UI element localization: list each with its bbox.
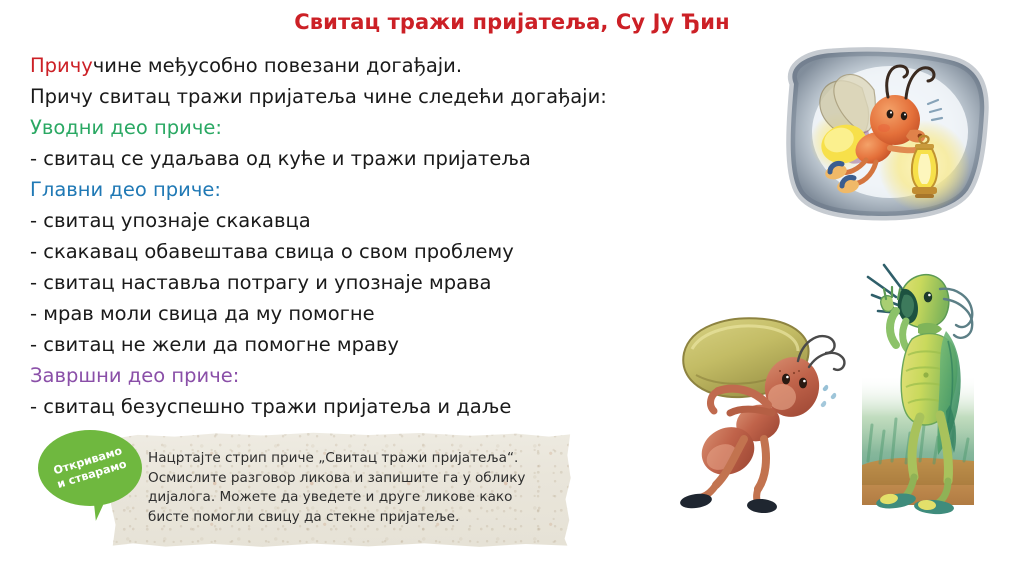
story-structure-text: Причу чине међусобно повезани догађаји. … bbox=[30, 50, 650, 422]
list-item: - свитац упознаје скакавца bbox=[30, 205, 650, 236]
intro-rest: чине међусобно повезани догађаји. bbox=[93, 56, 462, 76]
section-heading-uvodni: Уводни део приче: bbox=[30, 112, 650, 143]
page-title: Свитац тражи пријатеља, Су Ју Ђин bbox=[0, 10, 1024, 34]
intro-accent-word: Причу bbox=[30, 56, 93, 76]
list-item: - скакавац обавештава свица о свом пробл… bbox=[30, 236, 650, 267]
list-item: - свитац се удаљава од куће и тражи приј… bbox=[30, 143, 650, 174]
firefly-with-lantern-illustration bbox=[778, 44, 1006, 232]
list-item: - свитац наставља потрагу и упознаје мра… bbox=[30, 267, 650, 298]
task-line: Нацртајте стрип приче „Свитац тражи приј… bbox=[148, 449, 560, 469]
ant-carrying-seed-illustration bbox=[672, 305, 868, 523]
list-item: - мрав моли свица да му помогне bbox=[30, 298, 650, 329]
section-heading-zavrsni: Завршни део приче: bbox=[30, 360, 650, 391]
task-instructions: Нацртајте стрип приче „Свитац тражи приј… bbox=[148, 449, 560, 527]
intro-line: Причу чине међусобно повезани догађаји. bbox=[30, 50, 650, 81]
grasshopper-shouting-illustration bbox=[862, 255, 1010, 523]
discover-and-create-badge: Откривамо и стварамо bbox=[38, 430, 142, 506]
task-panel: Нацртајте стрип приче „Свитац тражи приј… bbox=[110, 432, 572, 548]
speech-bubble-label: Откривамо и стварамо bbox=[29, 416, 151, 519]
task-line: дијалога. Можете да уведете и друге лико… bbox=[148, 488, 560, 508]
subintro-line: Причу свитац тражи пријатеља чине следећ… bbox=[30, 81, 650, 112]
task-line: Осмислите разговор ликова и запишите га … bbox=[148, 469, 560, 489]
list-item: - свитац не жели да помогне мраву bbox=[30, 329, 650, 360]
section-heading-glavni: Главни део приче: bbox=[30, 174, 650, 205]
task-line: бисте помогли свицу да стекне пријатеље. bbox=[148, 508, 560, 528]
